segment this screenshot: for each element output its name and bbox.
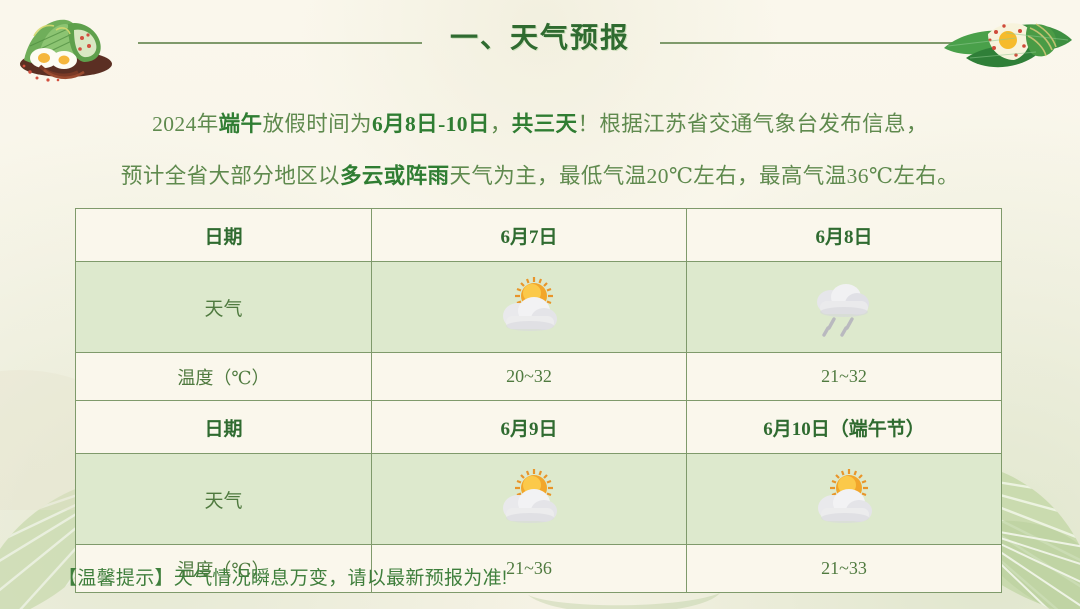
cell-weather-icon-2-2 [687, 454, 1002, 545]
intro-seg: ！根据江苏省交通气象台发布信息， [577, 112, 927, 136]
intro-seg-bold: 6月8日-10日 [372, 112, 490, 136]
table-row-temperature-1: 温度（℃） 20~32 21~32 [76, 353, 1002, 401]
cell-day-2-1: 6月9日 [372, 401, 687, 454]
intro-line-1: 2024年端午放假时间为6月8日-10日，共三天！根据江苏省交通气象台发布信息， [60, 98, 1020, 150]
cell-label-date-1: 日期 [76, 209, 372, 262]
table-row-date-header-2: 日期 6月9日 6月10日（端午节） [76, 401, 1002, 454]
cell-label-date-2: 日期 [76, 401, 372, 454]
table-row-weather-2: 天气 [76, 454, 1002, 545]
intro-paragraph: 2024年端午放假时间为6月8日-10日，共三天！根据江苏省交通气象台发布信息，… [60, 98, 1020, 202]
cell-weather-icon-1-2 [687, 262, 1002, 353]
footer-tip: 【温馨提示】天气情况瞬息万变，请以最新预报为准! [58, 563, 507, 590]
zongzi-leaf-icon [936, 0, 1080, 88]
cell-weather-icon-2-1 [372, 454, 687, 545]
intro-seg-bold: 端午 [219, 112, 263, 136]
cell-temp-2-2: 21~33 [687, 545, 1002, 593]
cell-label-temperature-1: 温度（℃） [76, 353, 372, 401]
intro-seg-bold: 共三天 [512, 112, 578, 136]
intro-seg: 2024年 [152, 112, 219, 136]
cloud-with-rain-icon [809, 276, 879, 338]
intro-line-2: 预计全省大部分地区以多云或阵雨天气为主，最低气温20℃左右，最高气温36℃左右。 [60, 150, 1020, 202]
intro-seg-bold: 多云或阵雨 [340, 164, 450, 188]
page-header: 一、天气预报 [0, 0, 1080, 84]
cell-temp-1-2: 21~32 [687, 353, 1002, 401]
table-row-weather-1: 天气 [76, 262, 1002, 353]
sun-behind-cloud-icon [494, 276, 564, 338]
sun-behind-cloud-icon [809, 468, 879, 530]
weather-forecast-table: 日期 6月7日 6月8日 天气 [75, 208, 1002, 593]
intro-seg: ， [490, 112, 512, 136]
zongzi-plate-icon [4, 2, 134, 88]
cell-day-2-2: 6月10日（端午节） [687, 401, 1002, 454]
cell-temp-1-1: 20~32 [372, 353, 687, 401]
page-title: 一、天气预报 [0, 16, 1080, 56]
cell-day-1-2: 6月8日 [687, 209, 1002, 262]
cell-label-weather-1: 天气 [76, 262, 372, 353]
intro-seg: 预计全省大部分地区以 [121, 164, 340, 188]
cell-label-weather-2: 天气 [76, 454, 372, 545]
intro-seg: 放假时间为 [262, 112, 372, 136]
cell-weather-icon-1-1 [372, 262, 687, 353]
sun-behind-cloud-icon [494, 468, 564, 530]
cell-day-1-1: 6月7日 [372, 209, 687, 262]
intro-seg: 天气为主，最低气温20℃左右，最高气温36℃左右。 [449, 164, 959, 188]
table-row-date-header-1: 日期 6月7日 6月8日 [76, 209, 1002, 262]
